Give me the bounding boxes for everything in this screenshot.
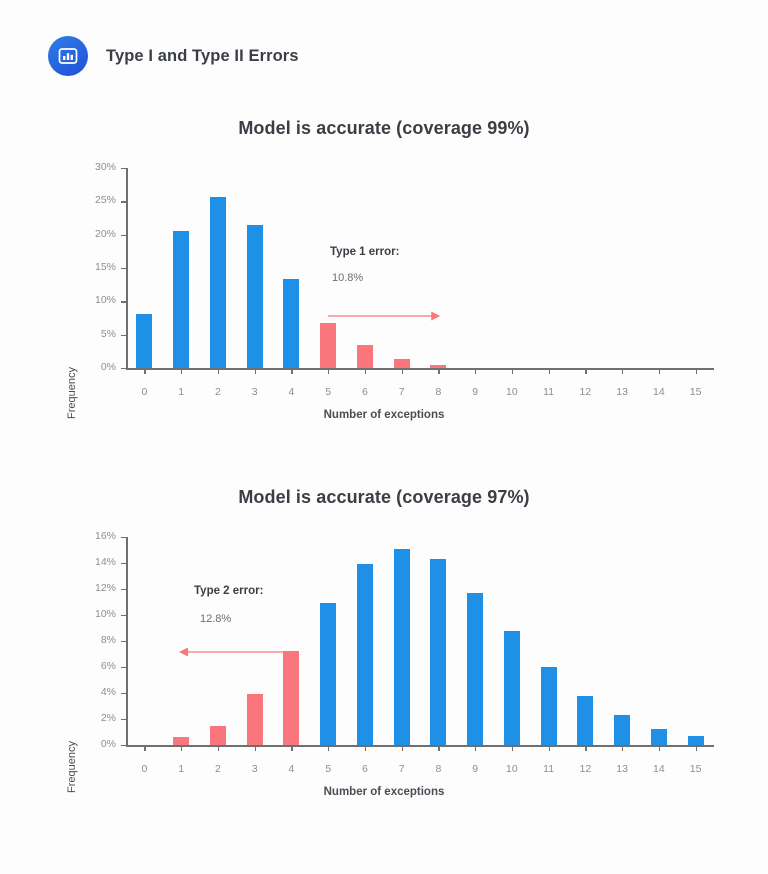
x-tick [328, 368, 329, 374]
plot-area: 0%5%10%15%20%25%30%012345678910111213141… [126, 168, 714, 368]
bar [173, 231, 189, 368]
y-tick [121, 719, 126, 720]
x-tick [549, 368, 550, 374]
y-tick [121, 235, 126, 236]
y-tick-label: 2% [74, 712, 116, 724]
y-tick [121, 615, 126, 616]
x-tick-label: 7 [382, 386, 422, 398]
chart-title: Model is accurate (coverage 97%) [0, 487, 768, 508]
x-tick [549, 745, 550, 751]
bar [394, 549, 410, 745]
chart-coverage-99: Model is accurate (coverage 99%) Frequen… [0, 118, 768, 469]
y-tick [121, 537, 126, 538]
y-tick-label: 20% [74, 228, 116, 240]
y-tick-label: 0% [74, 361, 116, 373]
y-tick [121, 301, 126, 302]
y-tick [121, 563, 126, 564]
y-tick [121, 368, 126, 369]
bar [504, 631, 520, 745]
x-tick [622, 368, 623, 374]
chart-title: Model is accurate (coverage 99%) [0, 118, 768, 139]
x-axis-line [126, 368, 714, 370]
chart-coverage-97: Model is accurate (coverage 97%) Frequen… [0, 487, 768, 838]
x-tick [218, 745, 219, 751]
x-axis-label: Number of exceptions [0, 786, 768, 798]
page-header: Type I and Type II Errors [0, 0, 768, 76]
x-tick-label: 6 [345, 386, 385, 398]
x-tick [365, 745, 366, 751]
bar [173, 737, 189, 745]
x-tick [512, 368, 513, 374]
x-tick [475, 745, 476, 751]
y-tick-label: 12% [74, 582, 116, 594]
bar [320, 603, 336, 745]
x-tick [365, 368, 366, 374]
x-tick-label: 11 [529, 763, 569, 775]
y-axis-line [126, 168, 128, 368]
y-tick [121, 201, 126, 202]
y-tick-label: 16% [74, 530, 116, 542]
bar [688, 736, 704, 745]
bar [394, 359, 410, 368]
x-tick-label: 1 [161, 763, 201, 775]
x-tick [291, 368, 292, 374]
bar [467, 593, 483, 745]
x-tick [255, 745, 256, 751]
x-tick [144, 368, 145, 374]
x-tick-label: 13 [602, 386, 642, 398]
x-tick [218, 368, 219, 374]
page-title: Type I and Type II Errors [106, 47, 299, 66]
x-tick-label: 0 [124, 763, 164, 775]
bar [283, 279, 299, 368]
x-tick-label: 6 [345, 763, 385, 775]
bar [247, 225, 263, 368]
x-tick-label: 4 [271, 763, 311, 775]
x-tick-label: 3 [235, 386, 275, 398]
x-tick-label: 13 [602, 763, 642, 775]
x-tick-label: 8 [418, 386, 458, 398]
bar [283, 651, 299, 745]
y-tick-label: 6% [74, 660, 116, 672]
x-tick-label: 8 [418, 763, 458, 775]
annotation-value: 12.8% [200, 613, 231, 625]
bar [210, 197, 226, 368]
x-tick [585, 368, 586, 374]
x-tick-label: 2 [198, 386, 238, 398]
y-tick [121, 641, 126, 642]
x-tick-label: 9 [455, 763, 495, 775]
x-tick [181, 368, 182, 374]
y-tick-label: 30% [74, 161, 116, 173]
x-tick-label: 12 [565, 386, 605, 398]
x-tick [659, 745, 660, 751]
arrow-right-icon [326, 309, 440, 323]
y-axis-line [126, 537, 128, 745]
x-tick-label: 14 [639, 386, 679, 398]
annotation-title: Type 1 error: [330, 246, 399, 258]
x-tick [659, 368, 660, 374]
x-tick-label: 15 [676, 763, 716, 775]
x-tick-label: 3 [235, 763, 275, 775]
x-tick [402, 368, 403, 374]
bar [357, 345, 373, 368]
x-axis-label: Number of exceptions [0, 409, 768, 421]
x-tick [438, 745, 439, 751]
bar [357, 564, 373, 745]
x-tick [438, 368, 439, 374]
y-tick [121, 589, 126, 590]
bar [614, 715, 630, 745]
bar [651, 729, 667, 745]
bar [430, 559, 446, 745]
x-tick [328, 745, 329, 751]
x-tick-label: 2 [198, 763, 238, 775]
y-tick-label: 25% [74, 194, 116, 206]
x-tick [402, 745, 403, 751]
plot-area: 0%2%4%6%8%10%12%14%16%012345678910111213… [126, 537, 714, 745]
y-tick-label: 10% [74, 294, 116, 306]
y-tick [121, 745, 126, 746]
x-tick-label: 5 [308, 386, 348, 398]
bar [210, 726, 226, 746]
x-tick [144, 745, 145, 751]
annotation-title: Type 2 error: [194, 585, 263, 597]
x-tick-label: 10 [492, 763, 532, 775]
bar [136, 314, 152, 368]
x-tick [585, 745, 586, 751]
y-tick [121, 268, 126, 269]
y-tick [121, 693, 126, 694]
bar [577, 696, 593, 745]
y-tick-label: 15% [74, 261, 116, 273]
arrow-left-icon [179, 645, 293, 659]
y-tick-label: 8% [74, 634, 116, 646]
x-tick [255, 368, 256, 374]
y-tick [121, 168, 126, 169]
x-tick-label: 10 [492, 386, 532, 398]
x-tick-label: 15 [676, 386, 716, 398]
x-tick [696, 368, 697, 374]
y-tick-label: 4% [74, 686, 116, 698]
x-tick-label: 4 [271, 386, 311, 398]
x-axis-line [126, 745, 714, 747]
bar-chart-icon [48, 36, 88, 76]
bar [247, 694, 263, 745]
y-tick [121, 335, 126, 336]
y-tick-label: 14% [74, 556, 116, 568]
y-tick [121, 667, 126, 668]
x-tick-label: 7 [382, 763, 422, 775]
x-tick-label: 14 [639, 763, 679, 775]
x-tick-label: 11 [529, 386, 569, 398]
annotation-value: 10.8% [332, 272, 363, 284]
bar [430, 365, 446, 368]
x-tick [475, 368, 476, 374]
y-tick-label: 5% [74, 328, 116, 340]
x-tick-label: 9 [455, 386, 495, 398]
y-tick-label: 10% [74, 608, 116, 620]
x-tick-label: 1 [161, 386, 201, 398]
y-tick-label: 0% [74, 738, 116, 750]
x-tick-label: 0 [124, 386, 164, 398]
x-tick-label: 5 [308, 763, 348, 775]
x-tick-label: 12 [565, 763, 605, 775]
x-tick [622, 745, 623, 751]
x-tick [291, 745, 292, 751]
bar [541, 667, 557, 745]
x-tick [181, 745, 182, 751]
bar [320, 323, 336, 368]
x-tick [512, 745, 513, 751]
x-tick [696, 745, 697, 751]
